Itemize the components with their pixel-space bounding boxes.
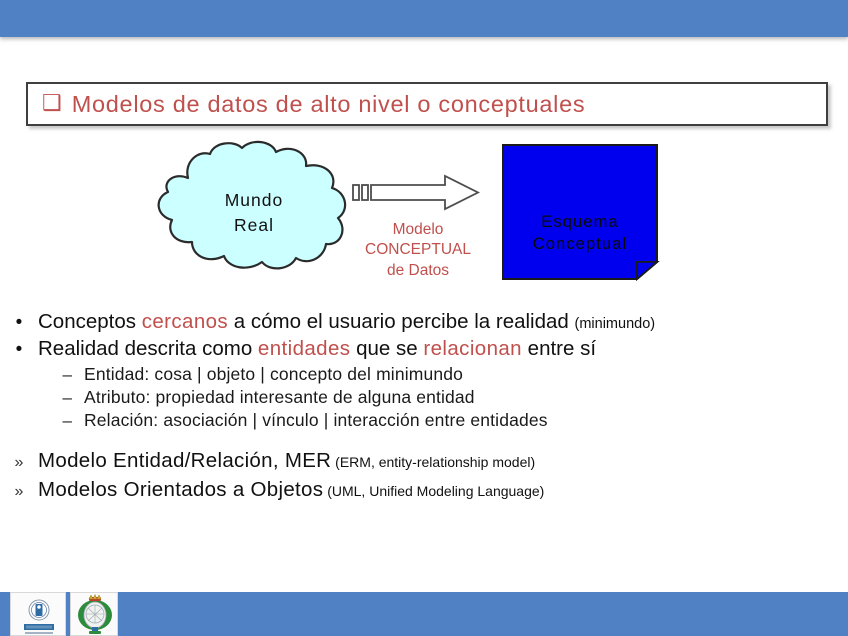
transform-arrow — [352, 174, 480, 212]
schema-label-line2: Conceptual — [533, 233, 627, 255]
sub-bullet-text: Relación: asociación | vínculo | interac… — [84, 410, 548, 431]
arrow-caption-line2: CONCEPTUAL — [348, 240, 488, 260]
schema-label: Esquema Conceptual — [500, 142, 660, 282]
bullet-part: que se — [350, 337, 423, 360]
bullet-part: Conceptos — [38, 310, 142, 333]
sub-bullet-marker: – — [0, 411, 84, 431]
spacer — [0, 433, 848, 449]
real-world-cloud: Mundo Real — [148, 140, 360, 272]
university-crest-icon — [71, 593, 118, 636]
arrow-caption-line3: de Datos — [348, 261, 488, 281]
politecnica-logo-icon — [11, 593, 66, 636]
bullet-part-highlight: entidades — [258, 337, 351, 360]
model-note: (UML, Unified Modeling Language) — [323, 483, 544, 499]
sub-bullet-text: Entidad: cosa | objeto | concepto del mi… — [84, 364, 463, 385]
concept-diagram: Mundo Real Modelo CONCEPTUAL de Datos — [0, 132, 848, 292]
top-banner — [0, 0, 848, 37]
slide-body: • Conceptos cercanos a cómo el usuario p… — [0, 310, 848, 507]
sub-bullet-item: – Relación: asociación | vínculo | inter… — [0, 410, 848, 431]
model-item: » Modelo Entidad/Relación, MER (ERM, ent… — [0, 449, 848, 473]
bullet-marker: • — [0, 339, 38, 361]
schema-label-line1: Esquema — [541, 211, 618, 233]
sub-bullet-text: Atributo: propiedad interesante de algun… — [84, 387, 475, 408]
bullet-part-highlight: relacionan — [423, 337, 522, 360]
bullet-text: Realidad descrita como entidades que se … — [38, 337, 596, 361]
sub-bullet-marker: – — [0, 365, 84, 385]
politecnica-logo — [10, 592, 66, 636]
sub-bullet-item: – Atributo: propiedad interesante de alg… — [0, 387, 848, 408]
bullet-part: a cómo el usuario percibe la realidad — [228, 310, 574, 333]
model-name: Modelos Orientados a Objetos — [38, 478, 323, 501]
bullet-part-highlight: cercanos — [142, 310, 228, 333]
arrow-caption-line1: Modelo — [348, 220, 488, 240]
bullet-part-note: (minimundo) — [575, 316, 656, 332]
model-marker: » — [0, 454, 38, 472]
model-name: Modelo Entidad/Relación, MER — [38, 449, 331, 472]
model-item: » Modelos Orientados a Objetos (UML, Uni… — [0, 478, 848, 502]
model-note: (ERM, entity-relationship model) — [331, 454, 535, 470]
bullet-item: • Conceptos cercanos a cómo el usuario p… — [0, 310, 848, 334]
university-crest-logo — [70, 592, 118, 636]
model-text: Modelo Entidad/Relación, MER (ERM, entit… — [38, 449, 535, 473]
cloud-label-line2: Real — [234, 213, 274, 238]
model-marker: » — [0, 483, 38, 501]
conceptual-schema-shape: Esquema Conceptual — [500, 142, 660, 282]
bullet-marker: • — [0, 312, 38, 334]
arrow-caption: Modelo CONCEPTUAL de Datos — [348, 220, 488, 281]
cloud-label-line1: Mundo — [225, 188, 284, 213]
bullet-part: Realidad descrita como — [38, 337, 258, 360]
bullet-part: entre sí — [522, 337, 596, 360]
bullet-text: Conceptos cercanos a cómo el usuario per… — [38, 310, 655, 334]
footer-bar — [0, 592, 848, 636]
sub-bullet-item: – Entidad: cosa | objeto | concepto del … — [0, 364, 848, 385]
block-arrow-right-icon — [352, 174, 480, 212]
model-text: Modelos Orientados a Objetos (UML, Unifi… — [38, 478, 544, 502]
bullet-item: • Realidad descrita como entidades que s… — [0, 337, 848, 361]
slide: ❑ Modelos de datos de alto nivel o conce… — [0, 0, 848, 636]
slide-title-box: ❑ Modelos de datos de alto nivel o conce… — [26, 82, 828, 126]
page-title: Modelos de datos de alto nivel o concept… — [72, 91, 586, 118]
sub-bullet-marker: – — [0, 388, 84, 408]
hollow-square-bullet-icon: ❑ — [42, 92, 62, 114]
cloud-label: Mundo Real — [148, 140, 360, 272]
